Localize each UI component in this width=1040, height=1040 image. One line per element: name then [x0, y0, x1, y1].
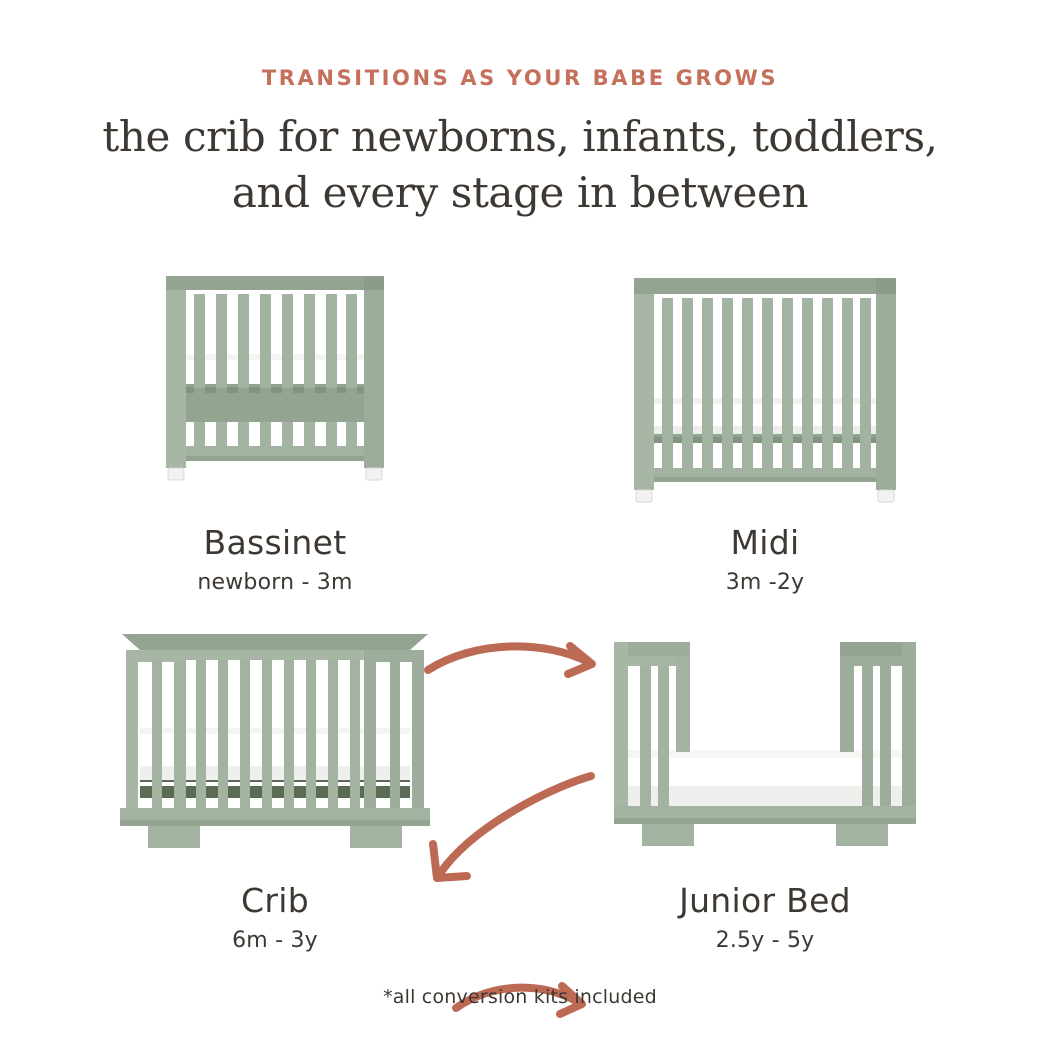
- product-age-crib: 6m - 3y: [40, 928, 510, 953]
- page-title: the crib for newborns, infants, toddlers…: [0, 109, 1040, 220]
- midi-svg: [620, 258, 910, 508]
- footnote-text: *all conversion kits included: [0, 986, 1040, 1008]
- midi-casters: [636, 490, 894, 502]
- product-age-junior: 2.5y - 5y: [530, 928, 1000, 953]
- product-age-bassinet: newborn - 3m: [40, 570, 510, 595]
- product-card-bassinet[interactable]: Bassinet newborn - 3m: [40, 258, 510, 595]
- eyebrow-text: TRANSITIONS AS YOUR BABE GROWS: [0, 66, 1040, 91]
- header-block: TRANSITIONS AS YOUR BABE GROWS the crib …: [0, 0, 1040, 220]
- bassinet-illustration: [40, 258, 510, 516]
- product-age-midi: 3m -2y: [530, 570, 1000, 595]
- arrow-midi-to-crib: [415, 744, 615, 899]
- junior-bed-svg: [590, 616, 940, 854]
- product-name-midi: Midi: [530, 524, 1000, 562]
- arrow-bassinet-to-midi: [420, 632, 610, 697]
- junior-bed-feet: [642, 824, 888, 846]
- transitions-infographic: TRANSITIONS AS YOUR BABE GROWS the crib …: [0, 0, 1040, 1040]
- bassinet-svg: [150, 258, 400, 508]
- crib-svg: [100, 616, 450, 854]
- midi-crib-illustration: [530, 258, 1000, 516]
- product-name-bassinet: Bassinet: [40, 524, 510, 562]
- product-grid: Bassinet newborn - 3m: [0, 258, 1040, 968]
- bassinet-casters: [168, 468, 382, 480]
- crib-feet: [148, 826, 402, 848]
- product-card-midi[interactable]: Midi 3m -2y: [530, 258, 1000, 595]
